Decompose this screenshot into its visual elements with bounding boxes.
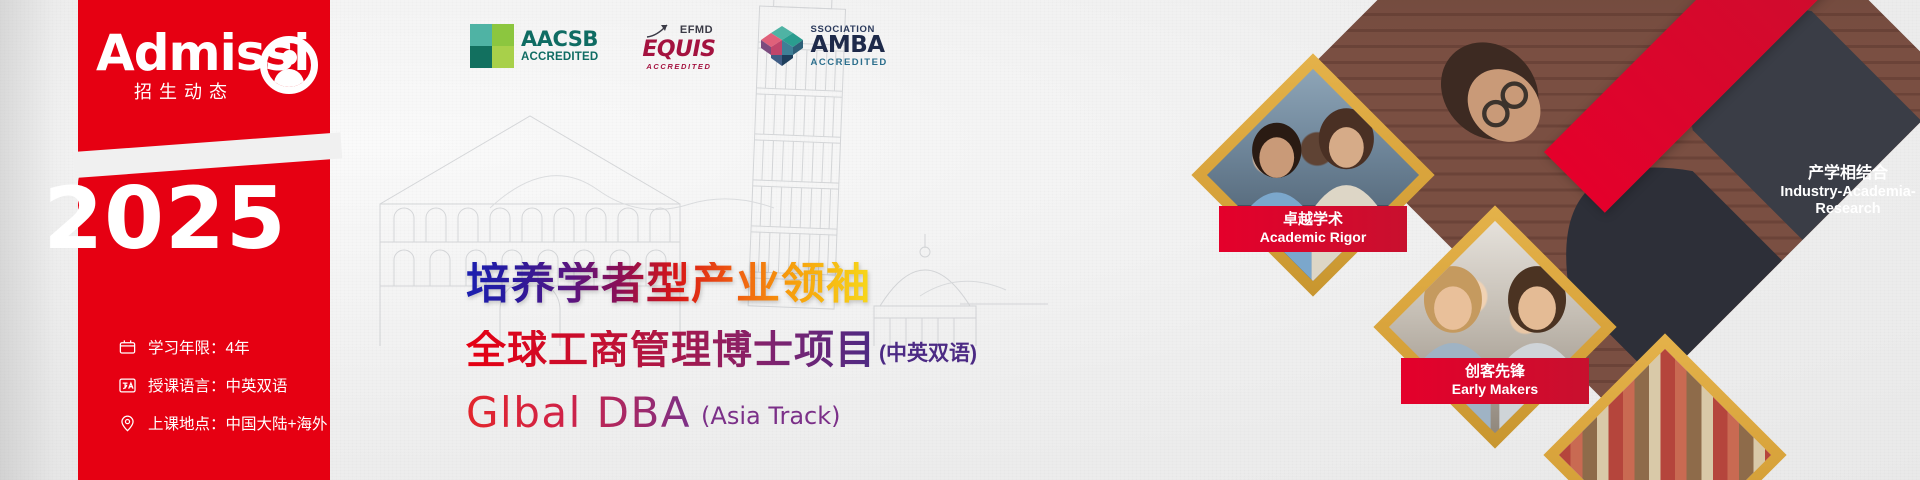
admission-chinese-label: 招生动态: [134, 78, 234, 104]
info-text-location: 上课地点：中国大陆+海外: [148, 412, 328, 434]
amba-logo: SSOCIATION AMBA ACCREDITED: [760, 25, 888, 68]
info-row-language: 授课语言：中英双语: [116, 366, 328, 404]
info-row-duration: 学习年限：4年: [116, 328, 328, 366]
amba-diamond-icon: [760, 25, 804, 67]
headline-program-cn: 全球工商管理博士项目 (中英双语): [466, 330, 977, 370]
amba-sub: ACCREDITED: [811, 58, 888, 68]
calendar-icon: [116, 336, 138, 358]
program-name-en: Glbal DBA: [466, 392, 691, 434]
headline-primary: 培养学者型产业领袖: [466, 262, 871, 306]
industry-label-en-line2: Research: [1748, 201, 1920, 219]
equis-sub: ACCREDITED: [642, 63, 715, 71]
program-language-note: (中英双语): [879, 337, 977, 370]
admission-logo: Admissi 招生动态: [92, 22, 332, 142]
equis-name: EQUIS: [642, 39, 715, 61]
makers-label: 创客先锋 Early Makers: [1401, 358, 1589, 404]
program-track-note: (Asia Track): [701, 402, 840, 434]
admission-banner: Admissi 招生动态 2025 学习年限：4年: [0, 0, 1920, 480]
aacsb-name: AACSB: [521, 29, 598, 50]
industry-label-cn: 产学相结合: [1748, 164, 1920, 184]
info-text-language: 授课语言：中英双语: [148, 374, 288, 396]
language-icon: [116, 374, 138, 396]
headline-program-en: Glbal DBA (Asia Track): [466, 392, 840, 434]
aacsb-squares-icon: [470, 24, 514, 68]
collage-card-bookshelf: [1590, 380, 1740, 480]
academic-label-cn: 卓越学术: [1219, 211, 1407, 229]
aacsb-logo: AACSB ACCREDITED: [470, 24, 598, 68]
industry-label-text: 产学相结合 Industry-Academia- Research: [1748, 164, 1920, 219]
academic-label: 卓越学术 Academic Rigor: [1219, 206, 1407, 252]
aacsb-sub: ACCREDITED: [521, 52, 598, 64]
person-head-shape: [282, 50, 297, 65]
info-text-duration: 学习年限：4年: [148, 336, 250, 358]
efmd-name: EFMD: [680, 25, 713, 36]
year-label: 2025: [0, 176, 330, 262]
collage-card-academic-rigor: 卓越学术 Academic Rigor: [1238, 100, 1388, 250]
photo-collage: 产学相结合 Industry-Academia- Research: [1120, 0, 1920, 480]
location-pin-icon: [116, 412, 138, 434]
collage-card-early-makers: 创客先锋 Early Makers: [1420, 252, 1570, 402]
equis-logo: EFMD EQUIS ACCREDITED: [642, 22, 715, 71]
accreditation-logos: AACSB ACCREDITED EFMD EQUIS ACCREDITED: [470, 22, 888, 71]
person-circle-icon: [260, 36, 318, 94]
industry-label-en-line1: Industry-Academia-: [1748, 184, 1920, 202]
academic-label-en: Academic Rigor: [1219, 229, 1407, 246]
makers-label-cn: 创客先锋: [1401, 363, 1589, 381]
program-name-cn: 全球工商管理博士项目: [466, 330, 876, 370]
amba-name: AMBA: [811, 34, 888, 57]
person-body-shape: [274, 69, 304, 94]
info-row-location: 上课地点：中国大陆+海外: [116, 404, 328, 442]
makers-label-en: Early Makers: [1401, 381, 1589, 398]
program-info-list: 学习年限：4年 授课语言：中英双语 上课地点：中国大陆+海外: [116, 328, 328, 442]
